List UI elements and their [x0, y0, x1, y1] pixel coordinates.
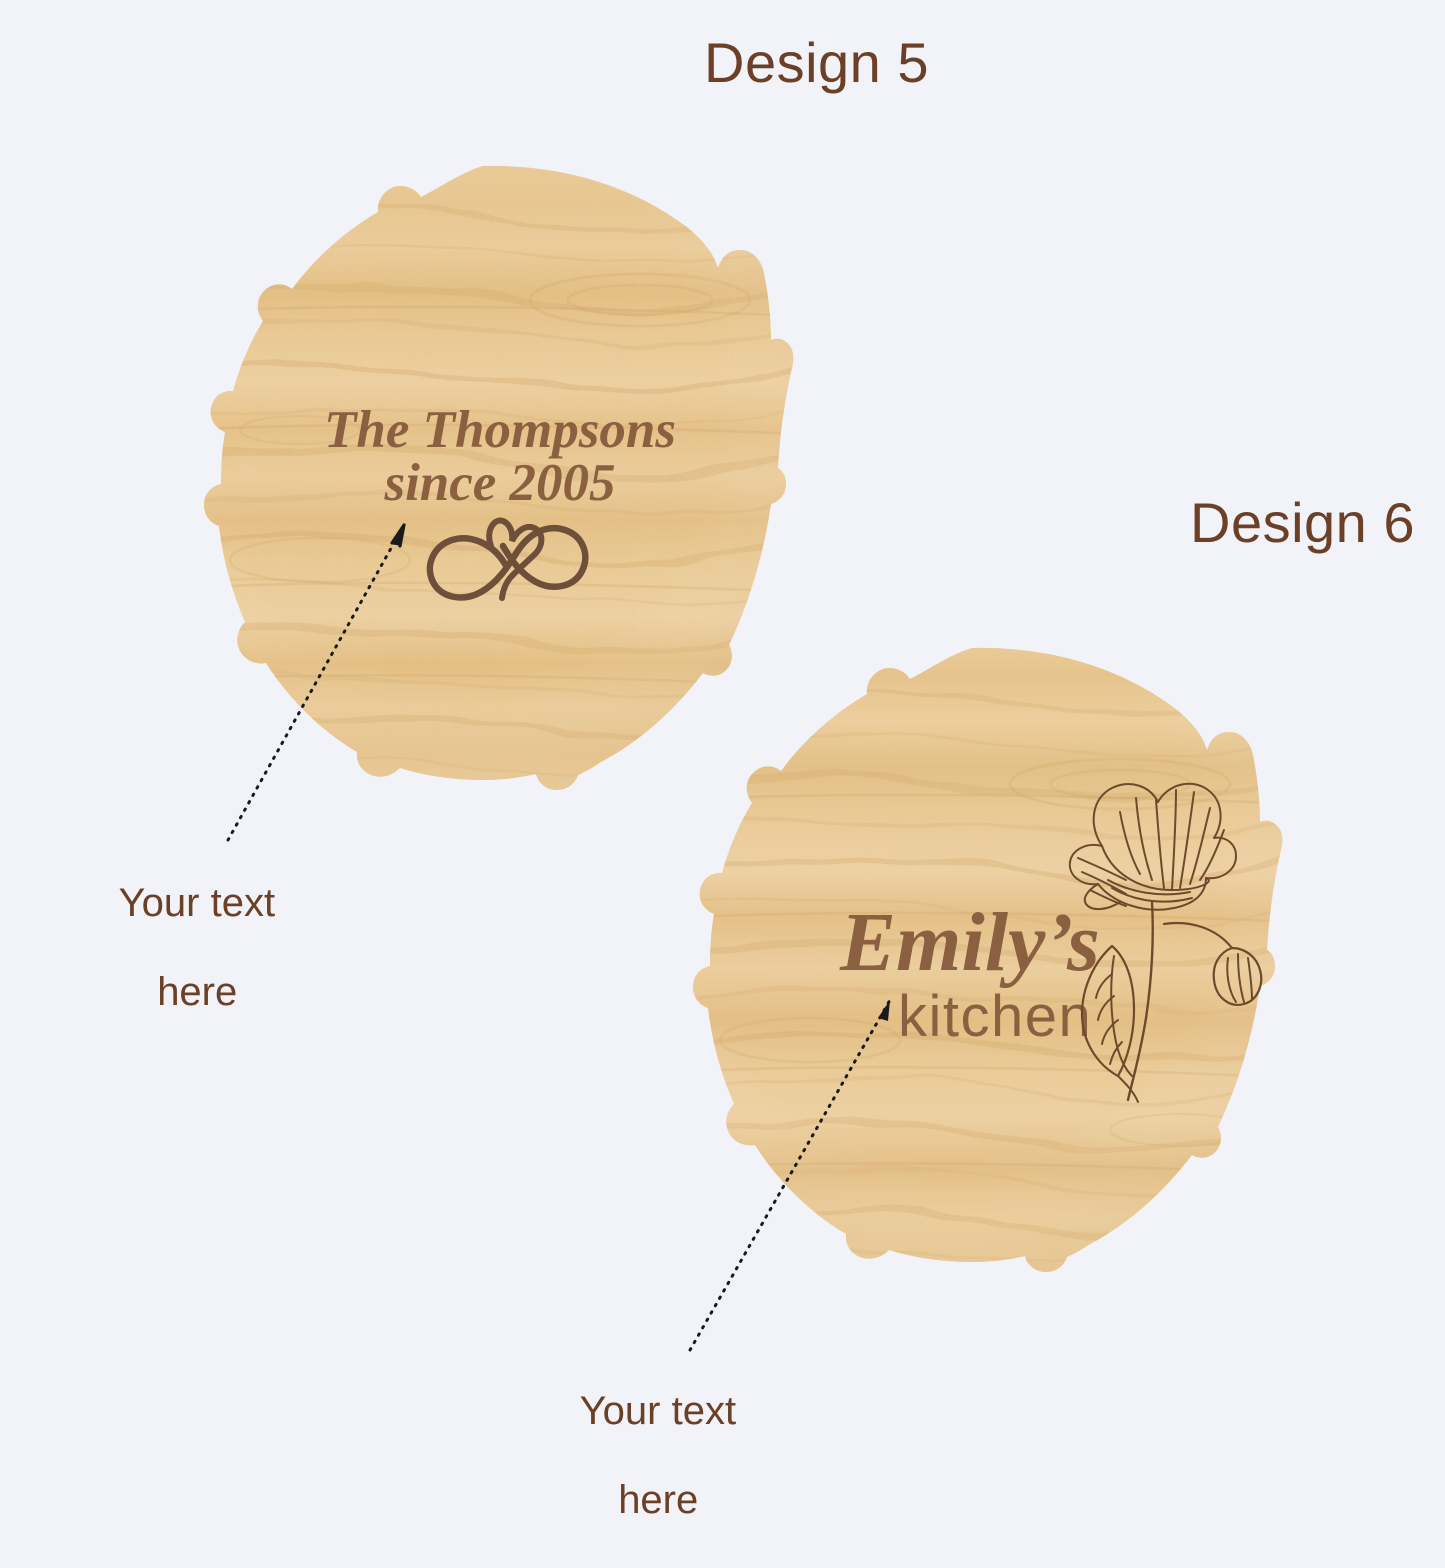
callout-line-2: here — [618, 1478, 698, 1522]
canvas: The Thompsons since 2005 — [0, 0, 1445, 1445]
callout-label-design-5: Your text here — [55, 836, 295, 1060]
engrave-kitchen: kitchen — [898, 984, 1092, 1049]
callout-line-1: Your text — [119, 881, 275, 925]
design-5-title: Design 5 — [704, 30, 929, 95]
cutting-board-design-6[interactable]: Emily’s kitchen — [670, 630, 1300, 1280]
callout-label-design-6: Your text here — [516, 1344, 756, 1568]
boards-artwork: The Thompsons since 2005 — [0, 0, 1445, 1445]
design-6-title: Design 6 — [1190, 490, 1415, 555]
callout-line-1: Your text — [580, 1389, 736, 1433]
engrave-line-1: The Thompsons — [324, 401, 676, 459]
engrave-name: Emily’s — [839, 896, 1100, 989]
cutting-board-design-5[interactable]: The Thompsons since 2005 — [180, 150, 800, 800]
callout-line-2: here — [157, 970, 237, 1014]
engrave-line-2: since 2005 — [383, 454, 615, 512]
